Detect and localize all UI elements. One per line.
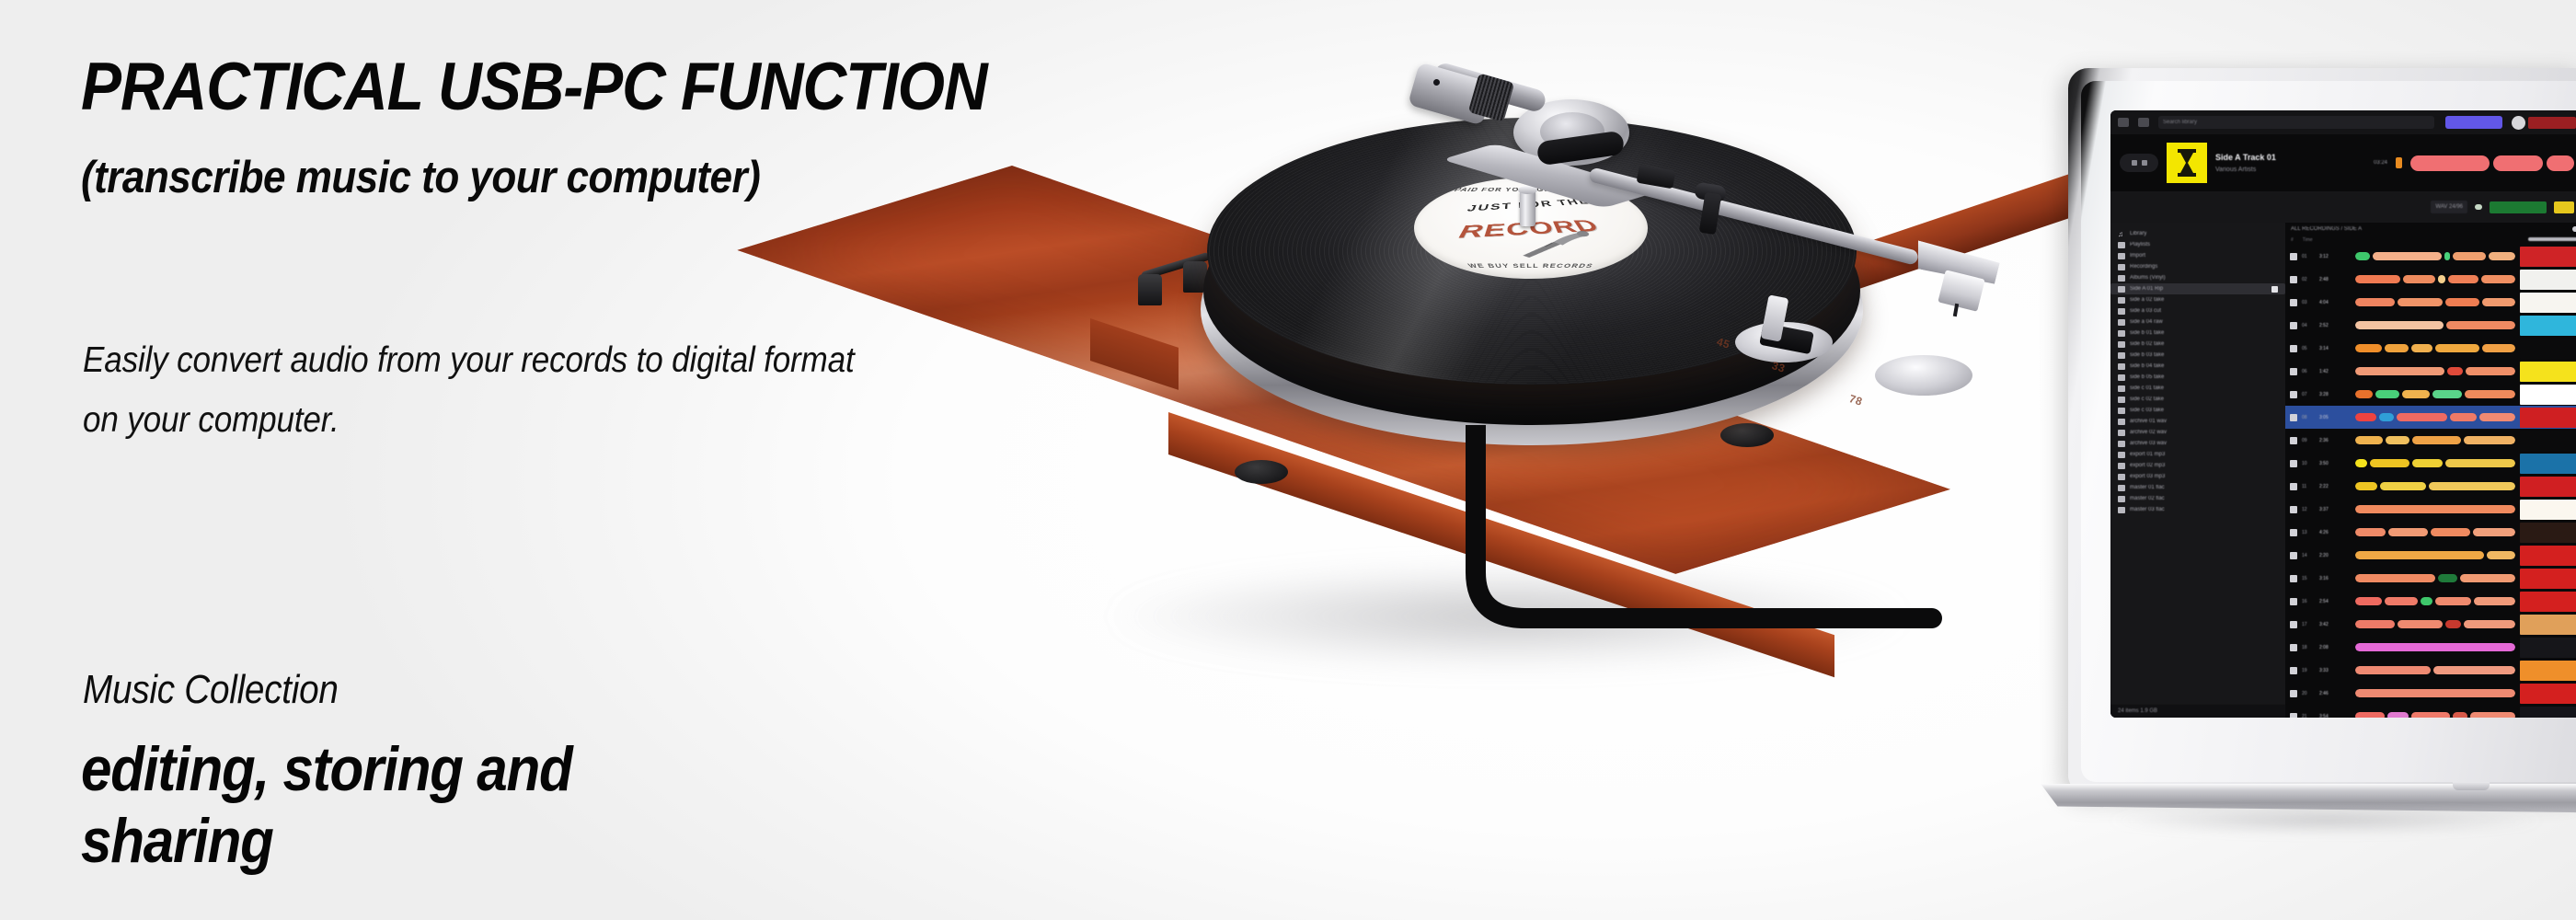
sidebar-item-11[interactable]: side b 05 take <box>2110 372 2285 383</box>
folder-icon <box>2118 253 2125 259</box>
column-num: # <box>2291 237 2294 243</box>
table-row[interactable]: 112:22 <box>2285 475 2576 498</box>
waveform-segment <box>2412 436 2461 444</box>
track-duration: 3:33 <box>2319 668 2351 673</box>
sidebar-item-5[interactable]: side a 03 cut <box>2110 305 2285 316</box>
sidebar-item-label: side c 02 take <box>2130 397 2164 402</box>
table-row[interactable]: 202:46 <box>2285 682 2576 705</box>
sidebar-item-label: side b 01 take <box>2130 330 2164 336</box>
sidebar-item-label: Side A 01 Rip <box>2130 286 2163 292</box>
track-waveform[interactable] <box>2355 505 2515 513</box>
sidebar-item-label: side a 04 raw <box>2130 319 2163 325</box>
waveform-segment <box>2421 597 2432 605</box>
folder-icon <box>2118 319 2125 326</box>
waveform-segment <box>2398 620 2444 628</box>
track-duration: 2:20 <box>2319 553 2351 558</box>
table-row[interactable]: 092:36 <box>2285 429 2576 452</box>
table-row[interactable]: 153:16 <box>2285 567 2576 590</box>
waveform-segment <box>2355 482 2377 490</box>
waveform-segment <box>2464 436 2515 444</box>
format-bar: WAV 24/96 <box>2110 191 2576 223</box>
waveform-segment <box>2487 551 2515 559</box>
sidebar-item-13[interactable]: side c 02 take <box>2110 394 2285 405</box>
sidebar-item-label: master 02 flac <box>2130 496 2165 501</box>
menu-icon[interactable] <box>2118 118 2129 127</box>
tracklist-rows: 013:12022:48034:04042:52053:14061:42073:… <box>2285 245 2576 718</box>
waveform-segment <box>2435 597 2471 605</box>
folder-icon <box>2118 352 2125 359</box>
track-type-icon <box>2290 460 2297 467</box>
track-waveform[interactable] <box>2355 252 2515 260</box>
folder-icon <box>2118 308 2125 315</box>
track-thumbnail <box>2520 569 2576 589</box>
sidebar-item-label: side a 03 cut <box>2130 308 2161 314</box>
folder-icon <box>2118 452 2125 458</box>
table-row[interactable]: 083:05 <box>2285 406 2576 429</box>
track-number: 16 <box>2302 599 2315 604</box>
waveform-segment <box>2355 252 2370 260</box>
waveform-segment <box>2355 712 2385 718</box>
sidebar-item-list: ImportRecordingsAlbums (Vinyl)Side A 01 … <box>2110 250 2285 515</box>
folder-icon <box>2118 441 2125 447</box>
sidebar-item-1[interactable]: Recordings <box>2110 261 2285 272</box>
table-row[interactable]: 061:42 <box>2285 360 2576 383</box>
table-row[interactable]: 162:54 <box>2285 590 2576 613</box>
waveform-segment <box>2386 436 2409 444</box>
track-thumbnail <box>2520 615 2576 635</box>
waveform-segment <box>2385 597 2418 605</box>
sidebar-item-label: export 01 mp3 <box>2130 452 2165 457</box>
sidebar-item-label: master 03 flac <box>2130 507 2165 512</box>
track-duration: 3:12 <box>2319 254 2351 259</box>
sidebar-item-label: master 01 flac <box>2130 485 2165 490</box>
track-duration: 2:22 <box>2319 484 2351 489</box>
track-number: 02 <box>2302 277 2315 282</box>
track-thumbnail <box>2520 362 2576 382</box>
sidebar-library-label: Library <box>2130 231 2146 236</box>
sidebar-item-label: side b 04 take <box>2130 363 2164 369</box>
waveform-segment <box>2448 275 2478 283</box>
waveform-segment <box>2450 413 2477 421</box>
sidebar-item-23[interactable]: master 03 flac <box>2110 504 2285 515</box>
music-note-icon: ♫ <box>2118 231 2125 237</box>
tracklist-header: ALL RECORDINGS / SIDE A <box>2285 223 2576 236</box>
sidebar-item-20[interactable]: export 03 mp3 <box>2110 471 2285 482</box>
track-thumbnail <box>2520 431 2576 451</box>
waveform-segment <box>2460 574 2515 582</box>
sidebar-item-3[interactable]: Side A 01 Rip <box>2110 283 2285 294</box>
feature-headline-line-2: sharing <box>81 810 895 872</box>
track-thumbnail <box>2520 270 2576 290</box>
track-type-icon <box>2290 345 2297 352</box>
waveform-segment <box>2355 597 2382 605</box>
waveform-segment <box>2355 298 2395 306</box>
track-thumbnail <box>2520 546 2576 566</box>
laptop-shadow <box>2013 810 2576 846</box>
waveform-segment <box>2433 666 2515 674</box>
waveform-segment <box>2453 712 2467 718</box>
marketing-copy: PRACTICAL USB-PC FUNCTION (transcribe mu… <box>81 0 1111 920</box>
next-icon[interactable] <box>2142 160 2147 166</box>
track-thumbnail <box>2520 454 2576 474</box>
status-dot <box>2475 204 2482 210</box>
sidebar-item-22[interactable]: master 02 flac <box>2110 493 2285 504</box>
waveform-segment <box>2355 321 2444 329</box>
table-row[interactable]: 193:33 <box>2285 659 2576 682</box>
track-type-icon <box>2290 414 2297 421</box>
track-duration: 2:48 <box>2319 277 2351 282</box>
waveform-segment <box>2355 551 2484 559</box>
track-duration: 2:54 <box>2319 599 2351 604</box>
track-type-icon <box>2290 644 2297 651</box>
track-waveform[interactable] <box>2355 712 2515 718</box>
section-kicker: Music Collection <box>83 670 811 710</box>
waveform-segment <box>2355 574 2435 582</box>
waveform-segment <box>2388 528 2428 536</box>
track-waveform[interactable] <box>2355 643 2515 651</box>
track-number: 08 <box>2302 415 2315 420</box>
track-thumbnail <box>2520 339 2576 359</box>
search-input[interactable]: Search library <box>2158 116 2434 129</box>
sidebar-item-15[interactable]: archive 01 wav <box>2110 416 2285 427</box>
format-chip[interactable]: WAV 24/96 <box>2431 201 2467 213</box>
track-time: 03:24 <box>2374 160 2387 166</box>
waveform-segment <box>2355 505 2515 513</box>
track-type-icon <box>2290 598 2297 605</box>
track-thumbnail <box>2520 385 2576 405</box>
table-row[interactable]: 073:28 <box>2285 383 2576 406</box>
track-waveform[interactable] <box>2355 620 2515 628</box>
sidebar-item-label: archive 03 wav <box>2130 441 2167 446</box>
sidebar-item-label: archive 01 wav <box>2130 419 2167 424</box>
search-placeholder: Search library <box>2158 120 2197 125</box>
track-waveform[interactable] <box>2355 298 2515 306</box>
folder-icon <box>2118 242 2125 248</box>
waveform-segment <box>2446 321 2515 329</box>
waveform-segment <box>2438 574 2456 582</box>
track-duration: 3:37 <box>2319 507 2351 512</box>
tracklist-panel: ALL RECORDINGS / SIDE A # Time 013:12022… <box>2285 223 2576 718</box>
track-number: 03 <box>2302 300 2315 305</box>
body-text-line-2: on your computer. <box>83 402 977 438</box>
sidebar-library-header[interactable]: ♫ Library <box>2110 228 2285 239</box>
sidebar-item-label: side c 03 take <box>2130 408 2164 413</box>
track-type-icon <box>2290 276 2297 283</box>
level-meter-green <box>2490 201 2547 213</box>
folder-icon <box>2118 286 2125 293</box>
waveform-segment <box>2465 390 2515 398</box>
spindle <box>1520 190 1535 226</box>
table-row[interactable]: 022:48 <box>2285 268 2576 291</box>
sidebar-item-2[interactable]: Albums (Vinyl) <box>2110 272 2285 283</box>
waveform-segment <box>2387 712 2409 718</box>
waveform-segment <box>2429 482 2515 490</box>
track-number: 07 <box>2302 392 2315 397</box>
waveform-segment <box>2355 620 2395 628</box>
track-type-icon <box>2290 552 2297 559</box>
stylus <box>1953 304 1959 316</box>
waveform-segment <box>2402 390 2429 398</box>
track-duration: 2:36 <box>2319 438 2351 443</box>
table-row[interactable]: 182:08 <box>2285 636 2576 659</box>
folder-icon <box>2118 374 2125 381</box>
sidebar-item-label: export 02 mp3 <box>2130 463 2165 468</box>
usb-cable <box>1454 425 2153 756</box>
waveform-segment <box>2481 275 2515 283</box>
sidebar-item-7[interactable]: side b 01 take <box>2110 328 2285 339</box>
waveform-segment <box>2355 413 2376 421</box>
app-toolbar: Search library <box>2110 110 2576 134</box>
table-row[interactable]: 142:20 <box>2285 544 2576 567</box>
transport-controls[interactable] <box>2120 154 2158 172</box>
usb-turntable: CASH PAID FOR YOUR GREAT COLLECTION JUST… <box>994 28 2153 764</box>
track-number: 17 <box>2302 622 2315 627</box>
track-waveform[interactable] <box>2355 275 2515 283</box>
track-waveform[interactable] <box>2355 321 2515 329</box>
track-waveform[interactable] <box>2355 390 2515 398</box>
track-waveform[interactable] <box>2355 666 2515 674</box>
track-type-icon <box>2290 437 2297 444</box>
track-type-icon <box>2290 299 2297 306</box>
folder-icon <box>2118 507 2125 513</box>
sidebar: ♫ Library Playlists ImportRecordingsAlbu… <box>2110 223 2285 718</box>
waveform-segment <box>2466 367 2515 375</box>
feature-headline-line-1: editing, storing and <box>81 738 895 800</box>
folder-icon <box>2118 363 2125 370</box>
track-type-icon <box>2290 713 2297 719</box>
page-title: PRACTICAL USB-PC FUNCTION <box>81 53 1014 121</box>
waveform-segment <box>2397 413 2447 421</box>
track-type-icon <box>2290 690 2297 697</box>
track-duration: 2:08 <box>2319 645 2351 650</box>
table-row[interactable]: 173:42 <box>2285 613 2576 636</box>
track-thumbnail <box>2520 638 2576 658</box>
waveform-segment <box>2482 344 2515 352</box>
body-text-line-1: Easily convert audio from your records t… <box>83 342 977 378</box>
sidebar-playlists-header[interactable]: Playlists <box>2110 239 2285 250</box>
sidebar-item-badge <box>2271 286 2278 293</box>
waveform-segment <box>2355 390 2373 398</box>
track-duration: 1:42 <box>2319 369 2351 374</box>
track-waveform[interactable] <box>2355 413 2515 421</box>
album-art[interactable] <box>2167 143 2207 183</box>
track-thumbnail <box>2520 316 2576 336</box>
waveform-preview[interactable] <box>2410 155 2574 171</box>
track-number: 06 <box>2302 369 2315 374</box>
track-type-icon <box>2290 391 2297 398</box>
track-duration: 3:28 <box>2319 392 2351 397</box>
track-waveform[interactable] <box>2355 367 2515 375</box>
folder-icon <box>2118 330 2125 337</box>
track-number: 18 <box>2302 645 2315 650</box>
track-duration: 3:50 <box>2319 461 2351 466</box>
folder-icon <box>2118 397 2125 403</box>
track-duration: 4:26 <box>2319 530 2351 535</box>
sidebar-item-6[interactable]: side a 04 raw <box>2110 316 2285 328</box>
waveform-segment <box>2355 459 2367 467</box>
track-number: 01 <box>2302 254 2315 259</box>
waveform-segment <box>2435 344 2480 352</box>
track-duration: 4:04 <box>2319 300 2351 305</box>
sidebar-item-label: side b 03 take <box>2130 352 2164 358</box>
waveform-segment <box>2355 666 2431 674</box>
table-row[interactable]: 034:04 <box>2285 291 2576 314</box>
playhead-marker[interactable] <box>2396 157 2402 168</box>
sidebar-item-label: side b 05 take <box>2130 374 2164 380</box>
laptop: MacBook Search library <box>2068 68 2576 850</box>
waveform-segment <box>2373 252 2442 260</box>
sidebar-item-19[interactable]: export 02 mp3 <box>2110 460 2285 471</box>
avatar[interactable] <box>2512 116 2525 130</box>
waveform-segment <box>2355 643 2515 651</box>
track-number: 04 <box>2302 323 2315 328</box>
track-number: 09 <box>2302 438 2315 443</box>
waveform-segment <box>2482 298 2515 306</box>
waveform-segment <box>2380 482 2426 490</box>
track-waveform[interactable] <box>2355 344 2515 352</box>
sidebar-item-8[interactable]: side b 02 take <box>2110 339 2285 350</box>
track-duration: 3:05 <box>2319 415 2351 420</box>
folder-icon <box>2118 264 2125 270</box>
now-playing-bar: Side A Track 01 Various Artists 03:24 <box>2110 134 2576 191</box>
page-subtitle: (transcribe music to your computer) <box>81 155 1008 201</box>
sidebar-footer: 24 items 1.9 GB <box>2110 705 2285 718</box>
poster-canvas: PRACTICAL USB-PC FUNCTION (transcribe mu… <box>0 0 2576 920</box>
waveform-segment <box>2432 390 2462 398</box>
now-playing-meta: Side A Track 01 Various Artists <box>2215 153 2353 173</box>
track-type-icon <box>2290 621 2297 628</box>
waveform-segment <box>2438 275 2445 283</box>
waveform-segment <box>2355 689 2515 697</box>
sidebar-item-14[interactable]: side c 03 take <box>2110 405 2285 416</box>
table-row[interactable]: 013:12 <box>2285 245 2576 268</box>
track-type-icon <box>2290 322 2297 329</box>
sidebar-item-21[interactable]: master 01 flac <box>2110 482 2285 493</box>
sidebar-item-label: Recordings <box>2130 264 2157 270</box>
sidebar-item-17[interactable]: archive 03 wav <box>2110 438 2285 449</box>
track-waveform[interactable] <box>2355 482 2515 490</box>
track-type-icon <box>2290 575 2297 582</box>
track-waveform[interactable] <box>2355 551 2515 559</box>
track-waveform[interactable] <box>2355 436 2515 444</box>
sidebar-item-label: Import <box>2130 253 2145 259</box>
waveform-segment <box>2453 252 2486 260</box>
sidebar-item-9[interactable]: side b 03 take <box>2110 350 2285 361</box>
waveform-segment <box>2445 459 2515 467</box>
laptop-lid-notch <box>2453 782 2490 790</box>
track-waveform[interactable] <box>2355 574 2515 582</box>
table-row[interactable]: 134:26 <box>2285 521 2576 544</box>
sidebar-item-label: side b 02 take <box>2130 341 2164 347</box>
track-thumbnail <box>2520 707 2576 719</box>
cartridge-rest-ring <box>1875 355 1972 396</box>
table-row[interactable]: 053:14 <box>2285 337 2576 360</box>
prev-icon[interactable] <box>2132 160 2137 166</box>
table-row[interactable]: 103:50 <box>2285 452 2576 475</box>
level-meter-yellow <box>2554 201 2574 213</box>
track-thumbnail <box>2520 684 2576 704</box>
track-type-icon <box>2290 253 2297 260</box>
waveform-segment <box>2445 620 2461 628</box>
waveform-segment <box>2355 528 2386 536</box>
sidebar-item-4[interactable]: side a 02 take <box>2110 294 2285 305</box>
sidebar-item-label: export 03 mp3 <box>2130 474 2165 479</box>
track-type-icon <box>2290 667 2297 674</box>
primary-action-button[interactable] <box>2445 116 2502 129</box>
waveform-segment <box>2479 413 2515 421</box>
track-duration: 2:46 <box>2319 691 2351 696</box>
sidebar-item-16[interactable]: archive 02 wav <box>2110 427 2285 438</box>
column-waveform <box>2528 237 2576 241</box>
waveform-segment <box>2431 528 2470 536</box>
track-waveform[interactable] <box>2355 597 2515 605</box>
edit-icon[interactable] <box>2138 118 2149 127</box>
waveform-segment <box>2470 712 2515 718</box>
waveform-segment <box>2370 459 2409 467</box>
waveform-segment <box>2474 597 2515 605</box>
folder-icon <box>2118 496 2125 502</box>
music-app-window: Search library <box>2110 110 2576 718</box>
sidebar-playlists-label: Playlists <box>2130 242 2150 247</box>
hourglass-icon <box>2176 149 2198 177</box>
waveform-segment <box>2398 298 2444 306</box>
sidebar-item-0[interactable]: Import <box>2110 250 2285 261</box>
table-row[interactable]: 042:52 <box>2285 314 2576 337</box>
track-number: 12 <box>2302 507 2315 512</box>
waveform-segment <box>2411 344 2432 352</box>
record-button[interactable] <box>2528 117 2576 129</box>
sidebar-item-18[interactable]: export 01 mp3 <box>2110 449 2285 460</box>
track-duration: 3:54 <box>2319 714 2351 719</box>
track-artist: Various Artists <box>2215 167 2353 173</box>
column-time: Time <box>2303 237 2313 243</box>
folder-icon <box>2118 385 2125 392</box>
folder-icon <box>2118 297 2125 304</box>
track-waveform[interactable] <box>2355 689 2515 697</box>
table-row[interactable]: 213:54 <box>2285 705 2576 718</box>
folder-icon <box>2118 419 2125 425</box>
track-duration: 2:52 <box>2319 323 2351 328</box>
waveform-segment <box>2385 344 2409 352</box>
waveform-segment <box>2355 344 2382 352</box>
folder-icon <box>2118 341 2125 348</box>
sidebar-item-10[interactable]: side b 04 take <box>2110 361 2285 372</box>
folder-icon <box>2118 463 2125 469</box>
sidebar-item-label: side a 02 take <box>2130 297 2164 303</box>
waveform-segment <box>2403 275 2436 283</box>
waveform-segment <box>2412 459 2443 467</box>
tracklist-options-icon[interactable] <box>2572 226 2576 232</box>
tracklist-title: ALL RECORDINGS / SIDE A <box>2291 226 2362 232</box>
track-number: 11 <box>2302 484 2315 489</box>
track-number: 05 <box>2302 346 2315 351</box>
waveform-segment <box>2355 367 2444 375</box>
track-thumbnail <box>2520 408 2576 428</box>
tracklist-columns: # Time <box>2285 236 2576 245</box>
track-waveform[interactable] <box>2355 459 2515 467</box>
track-waveform[interactable] <box>2355 528 2515 536</box>
sidebar-item-12[interactable]: side c 01 take <box>2110 383 2285 394</box>
track-thumbnail <box>2520 293 2576 313</box>
table-row[interactable]: 123:37 <box>2285 498 2576 521</box>
track-thumbnail <box>2520 661 2576 681</box>
app-main: ♫ Library Playlists ImportRecordingsAlbu… <box>2110 223 2576 718</box>
speed-mark-78: 78 <box>1847 392 1864 408</box>
sidebar-item-label: side c 01 take <box>2130 385 2164 391</box>
track-thumbnail <box>2520 247 2576 267</box>
track-thumbnail <box>2520 523 2576 543</box>
track-duration: 3:42 <box>2319 622 2351 627</box>
